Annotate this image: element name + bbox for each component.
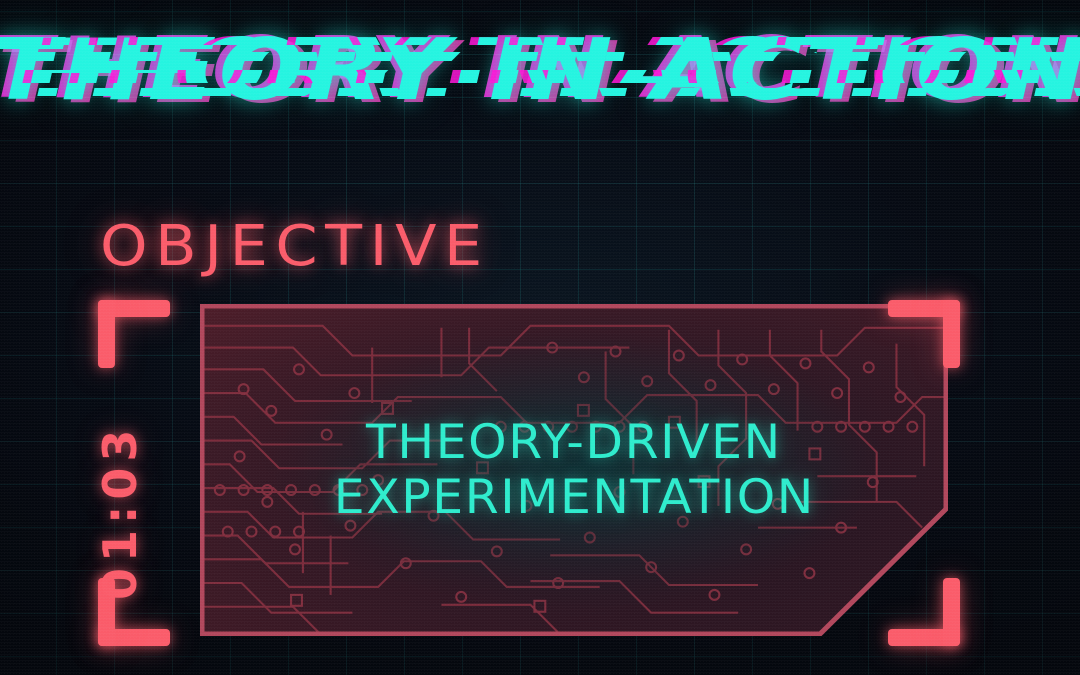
content-panel-inner — [204, 308, 944, 632]
section-heading: OBJECTIVE — [100, 214, 490, 279]
title-glitch-slice-2: THEORY IN ACTION — [0, 34, 1080, 45]
slide-canvas: THEORY IN ACTION THEORY IN ACTION THEORY… — [0, 0, 1080, 675]
corner-bracket-top-left — [98, 300, 170, 368]
bracket-arm-vertical — [98, 300, 115, 368]
title-glitch-slice-6: THEORY IN ACTION — [0, 103, 1080, 113]
circuit-board-pattern — [204, 308, 944, 636]
content-panel — [200, 304, 948, 636]
title-glitch-slice-1: THEORY IN ACTION — [0, 22, 1080, 29]
title-glitch-slice-5: THEORY IN ACTION — [0, 88, 1080, 96]
bracket-arm-vertical — [943, 578, 960, 646]
title-glitch-slice-3: THEORY IN ACTION — [0, 52, 1080, 61]
corner-bracket-top-right — [888, 300, 960, 368]
slide-number-code: 01:03 — [90, 360, 150, 600]
bracket-arm-vertical — [943, 300, 960, 368]
title-glitch-slice-4: THEORY IN ACTION — [0, 70, 1080, 83]
corner-bracket-bottom-right — [888, 578, 960, 646]
slide-title: THEORY IN ACTION THEORY IN ACTION THEORY… — [0, 8, 1080, 133]
